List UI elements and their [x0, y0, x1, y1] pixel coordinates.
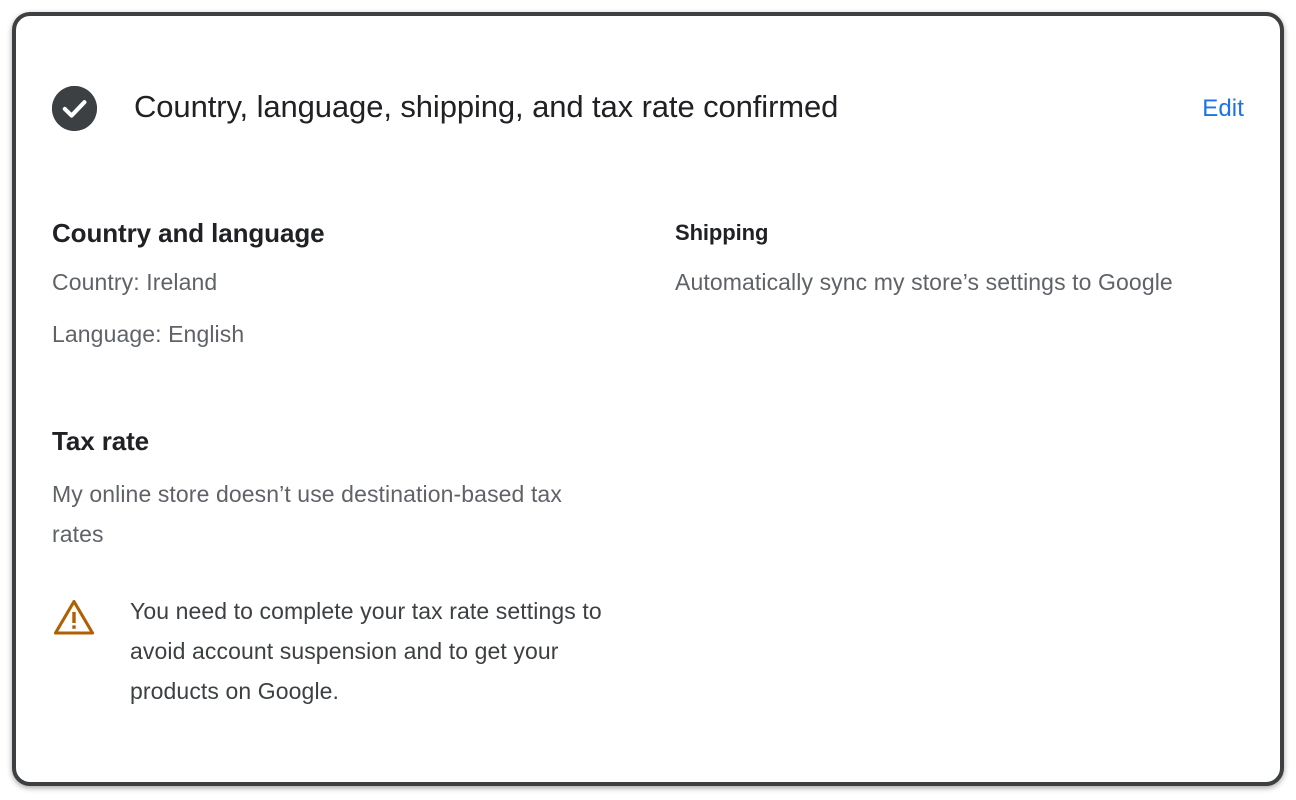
tax-rate-warning: You need to complete your tax rate setti… — [52, 591, 612, 711]
page-title: Country, language, shipping, and tax rat… — [134, 84, 838, 130]
edit-button[interactable]: Edit — [1202, 93, 1244, 125]
country-and-language-section: Country and language Country: Ireland La… — [52, 216, 652, 354]
confirmation-card: Country, language, shipping, and tax rat… — [12, 12, 1284, 786]
shipping-section: Shipping Automatically sync my store’s s… — [675, 218, 1215, 303]
screen: Country, language, shipping, and tax rat… — [0, 0, 1296, 800]
country-value: Country: Ireland — [52, 262, 652, 302]
tax-rate-section: Tax rate My online store doesn’t use des… — [52, 424, 612, 554]
check-circle-filled-icon — [52, 86, 97, 131]
card-header: Country, language, shipping, and tax rat… — [16, 16, 1280, 146]
language-value: Language: English — [52, 314, 652, 354]
shipping-value: Automatically sync my store’s settings t… — [675, 262, 1215, 303]
warning-triangle-icon — [52, 595, 96, 639]
tax-rate-value: My online store doesn’t use destination-… — [52, 474, 592, 554]
tax-rate-heading: Tax rate — [52, 424, 612, 458]
shipping-heading: Shipping — [675, 218, 1215, 248]
country-and-language-heading: Country and language — [52, 216, 652, 250]
tax-rate-warning-text: You need to complete your tax rate setti… — [130, 591, 612, 711]
card-body: Country and language Country: Ireland La… — [16, 146, 1280, 782]
